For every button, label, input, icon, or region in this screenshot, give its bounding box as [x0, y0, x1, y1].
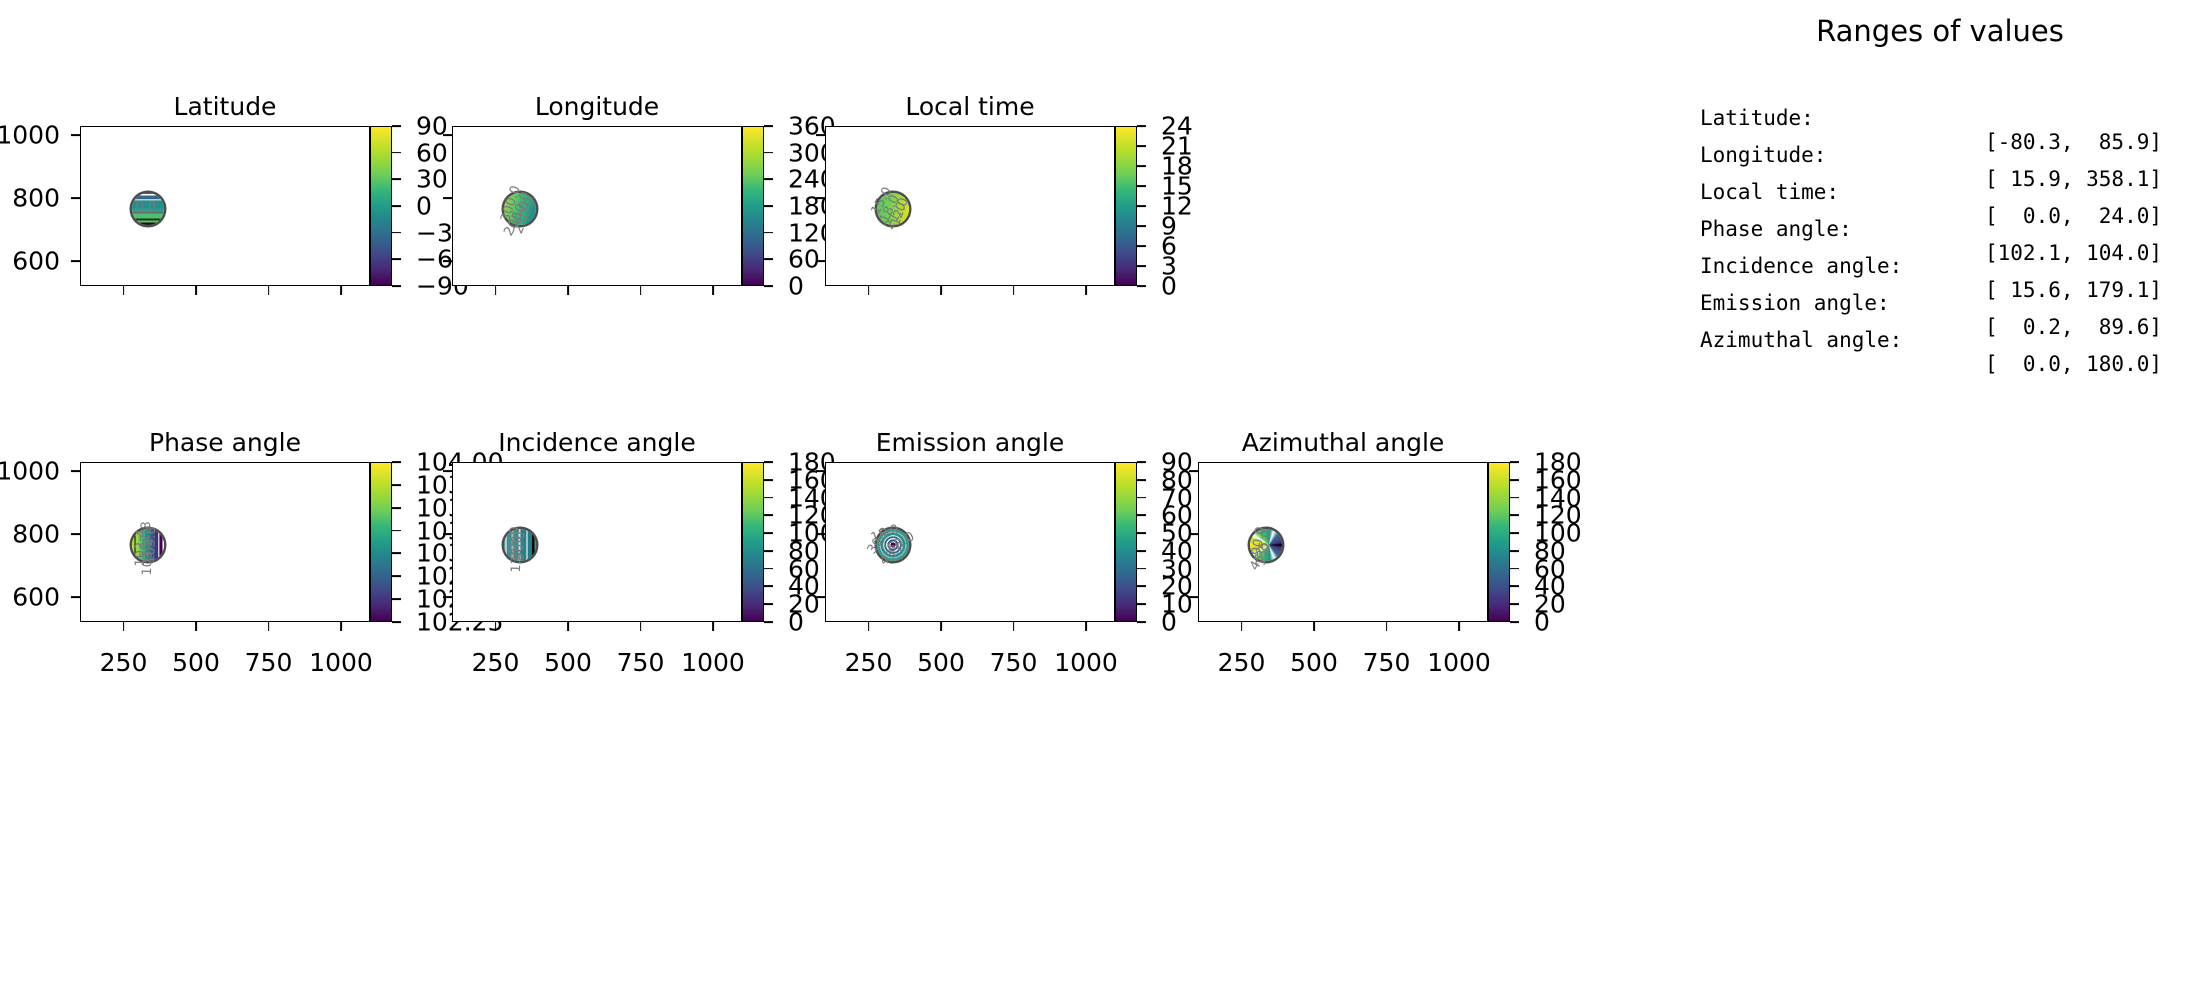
colorbar-tick-mark: [1510, 514, 1519, 516]
x-tick-mark: [1241, 622, 1243, 631]
projected-disk: 90.0135.045.0: [1250, 529, 1282, 561]
x-tick-mark: [1458, 622, 1460, 631]
y-tick-mark: [1189, 471, 1198, 473]
x-tick-label: 750: [1363, 648, 1411, 677]
colorbar[interactable]: [1488, 462, 1510, 622]
subplot-azimuthal-angle: Azimuthal angle90.0135.045.0250500750100…: [0, 0, 2200, 1000]
y-tick-mark: [1189, 596, 1198, 598]
x-tick-label: 1000: [1427, 648, 1491, 677]
x-tick-label: 250: [1218, 648, 1266, 677]
colorbar-tick-mark: [1510, 568, 1519, 570]
y-tick-mark: [1189, 533, 1198, 535]
x-tick-label: 500: [1290, 648, 1338, 677]
colorbar-tick-label: 0: [1534, 608, 1550, 637]
colorbar-tick-mark: [1510, 461, 1519, 463]
colorbar-tick-mark: [1510, 603, 1519, 605]
x-tick-mark: [1313, 622, 1315, 631]
colorbar-tick-mark: [1510, 621, 1519, 623]
plot-area[interactable]: 90.0135.045.0: [1198, 462, 1488, 622]
subplot-title: Azimuthal angle: [1123, 428, 1563, 457]
colorbar-tick-mark: [1510, 497, 1519, 499]
x-tick-mark: [1386, 622, 1388, 631]
colorbar-tick-mark: [1510, 479, 1519, 481]
colorbar-tick-mark: [1510, 532, 1519, 534]
colorbar-tick-mark: [1510, 586, 1519, 588]
colorbar-tick-mark: [1510, 550, 1519, 552]
